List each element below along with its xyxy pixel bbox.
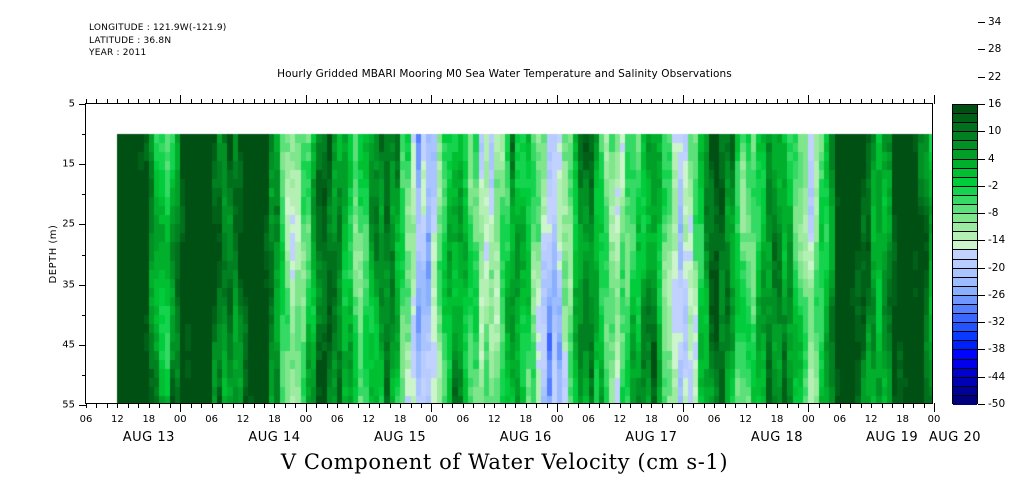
colorbar-band: [953, 196, 977, 205]
x-tick-minor: [578, 403, 579, 408]
year-text: YEAR : 2011: [89, 47, 227, 60]
x-hour-label: 06: [457, 414, 470, 425]
x-tick-minor: [254, 99, 255, 104]
x-tick-minor: [96, 403, 97, 408]
x-tick-minor: [128, 99, 129, 104]
colorbar-tick-label: -2: [988, 180, 998, 192]
y-tick: [79, 405, 86, 406]
x-hour-label: 06: [331, 414, 344, 425]
x-tick-major: [934, 95, 935, 104]
colorbar-band: [953, 223, 977, 232]
x-tick-minor: [861, 99, 862, 104]
x-tick-minor: [903, 99, 904, 104]
x-tick-minor: [578, 99, 579, 104]
x-tick-minor: [526, 99, 527, 104]
x-tick-minor: [264, 99, 265, 104]
plot-area: DEPTH (m) 51525354555 061218000612180006…: [85, 103, 933, 404]
x-tick-minor: [254, 403, 255, 408]
x-tick-minor: [672, 99, 673, 104]
x-tick-minor: [452, 99, 453, 104]
x-tick-minor: [348, 99, 349, 104]
colorbar-tick: [978, 131, 985, 132]
x-tick-minor: [421, 403, 422, 408]
x-tick-minor: [295, 403, 296, 408]
colorbar-band: [953, 123, 977, 132]
x-tick-minor: [170, 403, 171, 408]
colorbar-band: [953, 341, 977, 350]
x-tick-minor: [149, 99, 150, 104]
x-tick-minor: [473, 99, 474, 104]
x-hour-label: 18: [896, 414, 909, 425]
colorbar-band: [953, 396, 977, 405]
x-tick-minor: [473, 403, 474, 408]
colorbar-band: [953, 169, 977, 178]
y-tick: [79, 345, 86, 346]
x-tick-minor: [641, 99, 642, 104]
x-tick-minor: [212, 403, 213, 408]
x-tick-major: [557, 95, 558, 104]
x-tick-minor: [379, 99, 380, 104]
latitude-text: LATITUDE : 36.8N: [89, 35, 227, 48]
x-tick-minor: [243, 99, 244, 104]
x-hour-label: 18: [645, 414, 658, 425]
x-tick-minor: [222, 99, 223, 104]
x-tick-minor: [641, 403, 642, 408]
colorbar-band: [953, 369, 977, 378]
x-tick-minor: [651, 99, 652, 104]
x-hour-label: 00: [928, 414, 941, 425]
x-tick-minor: [798, 99, 799, 104]
x-tick-minor: [295, 99, 296, 104]
x-tick-minor: [672, 403, 673, 408]
x-tick-minor: [620, 403, 621, 408]
colorbar-band: [953, 132, 977, 141]
x-tick-minor: [337, 403, 338, 408]
x-tick-minor: [850, 403, 851, 408]
colorbar-tick-label: -14: [988, 234, 1005, 246]
x-tick-minor: [568, 99, 569, 104]
x-hour-label: 18: [268, 414, 281, 425]
colorbar-band: [953, 187, 977, 196]
colorbar-tick-label: 22: [988, 71, 1001, 83]
colorbar-tick: [978, 404, 985, 405]
x-tick-minor: [442, 99, 443, 104]
x-tick-minor: [411, 99, 412, 104]
x-tick-minor: [777, 99, 778, 104]
x-tick-major: [683, 403, 684, 412]
x-tick-minor: [390, 99, 391, 104]
x-tick-minor: [243, 403, 244, 408]
station-metadata: LONGITUDE : 121.9W(-121.9) LATITUDE : 36…: [89, 22, 227, 60]
y-tick-minor: [82, 255, 86, 256]
x-tick-minor: [609, 403, 610, 408]
x-hour-label: 06: [80, 414, 93, 425]
x-tick-minor: [777, 403, 778, 408]
x-tick-minor: [201, 99, 202, 104]
x-tick-minor: [840, 403, 841, 408]
x-tick-minor: [787, 403, 788, 408]
colorbar-tick: [978, 268, 985, 269]
colorbar-tick-label: -20: [988, 262, 1005, 274]
x-tick-minor: [484, 403, 485, 408]
x-tick-minor: [662, 99, 663, 104]
y-axis-title: DEPTH (m): [48, 224, 59, 283]
colorbar-band: [953, 360, 977, 369]
page-title: Hourly Gridded MBARI Mooring M0 Sea Wate…: [0, 68, 1009, 80]
colorbar-tick-label: -50: [988, 398, 1005, 410]
x-tick-minor: [609, 99, 610, 104]
x-tick-minor: [630, 403, 631, 408]
x-tick-minor: [871, 403, 872, 408]
x-tick-minor: [798, 403, 799, 408]
colorbar-tick-label: 28: [988, 43, 1001, 55]
colorbar-tick-label: -8: [988, 207, 998, 219]
colorbar-band: [953, 296, 977, 305]
x-tick-minor: [316, 99, 317, 104]
y-tick-label: 55: [62, 400, 75, 411]
x-tick-minor: [348, 403, 349, 408]
x-hour-label: 12: [739, 414, 752, 425]
x-tick-minor: [337, 99, 338, 104]
x-day-label: AUG 13: [123, 430, 175, 445]
y-tick-label: 45: [62, 339, 75, 350]
x-hour-label: 18: [519, 414, 532, 425]
x-tick-minor: [400, 403, 401, 408]
y-tick: [79, 104, 86, 105]
colorbar-tick: [978, 186, 985, 187]
x-tick-minor: [484, 99, 485, 104]
x-hour-label: 00: [551, 414, 564, 425]
colorbar-band: [953, 387, 977, 396]
x-tick-minor: [264, 403, 265, 408]
x-tick-minor: [463, 99, 464, 104]
x-tick-minor: [128, 403, 129, 408]
x-hour-label: 12: [865, 414, 878, 425]
x-tick-major: [306, 403, 307, 412]
colorbar-band: [953, 178, 977, 187]
colorbar-band: [953, 150, 977, 159]
colorbar-tick: [978, 22, 985, 23]
x-hour-label: 00: [425, 414, 438, 425]
x-tick-major: [808, 95, 809, 104]
colorbar-tick-label: -26: [988, 289, 1005, 301]
x-tick-minor: [358, 99, 359, 104]
x-tick-minor: [787, 99, 788, 104]
y-tick-minor: [82, 375, 86, 376]
x-hour-label: 00: [676, 414, 689, 425]
x-tick-minor: [630, 99, 631, 104]
x-tick-minor: [86, 403, 87, 408]
x-tick-minor: [714, 403, 715, 408]
x-tick-minor: [369, 99, 370, 104]
x-tick-minor: [766, 403, 767, 408]
x-tick-minor: [714, 99, 715, 104]
y-tick-minor: [82, 194, 86, 195]
x-hour-label: 00: [174, 414, 187, 425]
x-tick-minor: [662, 403, 663, 408]
colorbar-tick-label: 34: [988, 16, 1001, 28]
x-tick-minor: [285, 403, 286, 408]
x-tick-major: [683, 95, 684, 104]
y-tick-label: 35: [62, 279, 75, 290]
x-tick-minor: [924, 403, 925, 408]
x-tick-minor: [149, 403, 150, 408]
x-hour-label: 06: [582, 414, 595, 425]
x-tick-minor: [505, 403, 506, 408]
x-tick-minor: [138, 99, 139, 104]
y-tick: [79, 164, 86, 165]
x-tick-minor: [96, 99, 97, 104]
x-tick-minor: [138, 403, 139, 408]
x-tick-minor: [400, 99, 401, 104]
x-tick-minor: [159, 403, 160, 408]
x-tick-minor: [589, 403, 590, 408]
x-tick-minor: [327, 99, 328, 104]
x-day-label: AUG 14: [248, 430, 300, 445]
x-tick-minor: [107, 403, 108, 408]
x-tick-minor: [704, 99, 705, 104]
x-tick-minor: [693, 403, 694, 408]
y-tick-label: 25: [62, 219, 75, 230]
x-tick-minor: [568, 403, 569, 408]
colorbar-band: [953, 260, 977, 269]
x-tick-minor: [620, 99, 621, 104]
x-hour-label: 06: [833, 414, 846, 425]
x-tick-minor: [86, 99, 87, 104]
x-tick-minor: [117, 99, 118, 104]
x-tick-minor: [924, 99, 925, 104]
colorbar-tick: [978, 49, 985, 50]
x-tick-minor: [452, 403, 453, 408]
x-tick-minor: [903, 403, 904, 408]
x-tick-minor: [735, 99, 736, 104]
colorbar-band: [953, 241, 977, 250]
colorbar-tick-label: 10: [988, 125, 1001, 137]
x-tick-major: [431, 95, 432, 104]
x-hour-label: 12: [362, 414, 375, 425]
x-tick-minor: [358, 403, 359, 408]
x-day-label: AUG 19: [866, 430, 918, 445]
x-tick-minor: [766, 99, 767, 104]
colorbar-tick: [978, 240, 985, 241]
x-tick-minor: [871, 99, 872, 104]
x-tick-minor: [819, 403, 820, 408]
x-hour-label: 12: [488, 414, 501, 425]
colorbar-tick: [978, 377, 985, 378]
colorbar-tick: [978, 104, 985, 105]
x-tick-minor: [233, 403, 234, 408]
x-tick-minor: [725, 99, 726, 104]
colorbar-tick-label: 4: [988, 153, 995, 165]
x-tick-minor: [547, 99, 548, 104]
y-tick-label: 15: [62, 159, 75, 170]
x-tick-minor: [589, 99, 590, 104]
x-tick-minor: [829, 403, 830, 408]
colorbar-band: [953, 350, 977, 359]
x-tick-minor: [494, 99, 495, 104]
x-tick-minor: [285, 99, 286, 104]
y-tick-minor: [82, 315, 86, 316]
x-tick-minor: [735, 403, 736, 408]
colorbar-tick-label: -44: [988, 371, 1005, 383]
colorbar-tick: [978, 213, 985, 214]
x-tick-minor: [526, 403, 527, 408]
x-tick-minor: [369, 403, 370, 408]
colorbar-band: [953, 250, 977, 259]
x-day-label: AUG 16: [500, 430, 552, 445]
colorbar-tick: [978, 295, 985, 296]
x-tick-minor: [505, 99, 506, 104]
x-hour-label: 00: [802, 414, 815, 425]
x-tick-minor: [725, 403, 726, 408]
x-tick-minor: [117, 403, 118, 408]
colorbar-tick: [978, 349, 985, 350]
x-tick-minor: [599, 403, 600, 408]
colorbar-band: [953, 214, 977, 223]
y-tick-minor: [82, 134, 86, 135]
x-tick-minor: [233, 99, 234, 104]
x-hour-label: 18: [142, 414, 155, 425]
x-day-label: AUG 15: [374, 430, 426, 445]
colorbar-band: [953, 160, 977, 169]
colorbar-tick-label: -32: [988, 316, 1005, 328]
x-hour-label: 12: [237, 414, 250, 425]
x-tick-minor: [892, 99, 893, 104]
x-tick-minor: [191, 403, 192, 408]
x-tick-minor: [191, 99, 192, 104]
y-tick: [79, 285, 86, 286]
colorbar-band: [953, 269, 977, 278]
figure-caption: V Component of Water Velocity (cm s-1): [0, 450, 1009, 474]
colorbar-band: [953, 287, 977, 296]
x-tick-minor: [107, 99, 108, 104]
x-tick-minor: [882, 403, 883, 408]
colorbar-tick: [978, 159, 985, 160]
colorbar-tick-label: 16: [988, 98, 1001, 110]
x-tick-minor: [170, 99, 171, 104]
x-tick-minor: [892, 403, 893, 408]
x-tick-minor: [756, 99, 757, 104]
x-tick-minor: [819, 99, 820, 104]
x-tick-minor: [327, 403, 328, 408]
colorbar-tick-label: 40: [988, 0, 1001, 1]
x-tick-minor: [882, 99, 883, 104]
x-hour-label: 18: [394, 414, 407, 425]
x-tick-minor: [515, 403, 516, 408]
x-tick-major: [557, 403, 558, 412]
colorbar-band: [953, 305, 977, 314]
x-hour-label: 12: [111, 414, 124, 425]
heatmap-data-layer: [86, 104, 932, 403]
x-tick-minor: [913, 99, 914, 104]
x-tick-minor: [536, 99, 537, 104]
x-hour-label: 18: [771, 414, 784, 425]
x-tick-minor: [463, 403, 464, 408]
x-hour-label: 12: [614, 414, 627, 425]
colorbar: [952, 104, 978, 404]
colorbar-band: [953, 205, 977, 214]
colorbar-band: [953, 232, 977, 241]
x-tick-minor: [840, 99, 841, 104]
x-tick-minor: [536, 403, 537, 408]
x-day-label: AUG 18: [751, 430, 803, 445]
x-tick-minor: [913, 403, 914, 408]
x-tick-minor: [704, 403, 705, 408]
x-tick-minor: [390, 403, 391, 408]
x-tick-minor: [411, 403, 412, 408]
colorbar-band: [953, 323, 977, 332]
x-tick-minor: [201, 403, 202, 408]
colorbar-band: [953, 278, 977, 287]
y-tick: [79, 224, 86, 225]
x-tick-minor: [222, 403, 223, 408]
x-tick-minor: [746, 99, 747, 104]
x-tick-major: [306, 95, 307, 104]
colorbar-band: [953, 105, 977, 114]
x-tick-minor: [159, 99, 160, 104]
x-tick-minor: [746, 403, 747, 408]
x-tick-minor: [756, 403, 757, 408]
x-tick-minor: [850, 99, 851, 104]
x-tick-minor: [515, 99, 516, 104]
x-tick-major: [934, 403, 935, 412]
x-tick-major: [180, 95, 181, 104]
colorbar-band: [953, 314, 977, 323]
colorbar-band: [953, 378, 977, 387]
x-tick-minor: [212, 99, 213, 104]
colorbar-tick: [978, 77, 985, 78]
x-hour-label: 00: [299, 414, 312, 425]
x-day-label: AUG 20: [929, 430, 981, 445]
colorbar-band: [953, 332, 977, 341]
colorbar-band: [953, 114, 977, 123]
x-tick-minor: [861, 403, 862, 408]
x-hour-label: 06: [708, 414, 721, 425]
y-tick-label: 5: [69, 99, 75, 110]
colorbar-tick-label: -38: [988, 343, 1005, 355]
x-tick-major: [431, 403, 432, 412]
x-tick-minor: [651, 403, 652, 408]
x-tick-minor: [599, 99, 600, 104]
x-tick-minor: [274, 403, 275, 408]
x-day-label: AUG 17: [625, 430, 677, 445]
x-tick-minor: [316, 403, 317, 408]
colorbar-band: [953, 141, 977, 150]
colorbar-tick: [978, 322, 985, 323]
x-tick-minor: [421, 99, 422, 104]
x-tick-minor: [494, 403, 495, 408]
x-tick-minor: [379, 403, 380, 408]
x-tick-major: [808, 403, 809, 412]
x-hour-label: 06: [205, 414, 218, 425]
x-tick-minor: [547, 403, 548, 408]
x-tick-minor: [693, 99, 694, 104]
longitude-text: LONGITUDE : 121.9W(-121.9): [89, 22, 227, 35]
x-tick-major: [180, 403, 181, 412]
x-tick-minor: [829, 99, 830, 104]
x-tick-minor: [274, 99, 275, 104]
x-tick-minor: [442, 403, 443, 408]
